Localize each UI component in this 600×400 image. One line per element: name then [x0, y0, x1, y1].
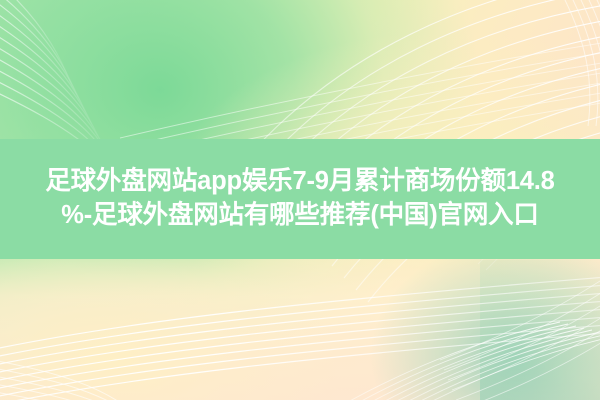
headline-text-block: 足球外盘网站app娱乐7-9月累计商场份额14.8 %-足球外盘网站有哪些推荐(… — [20, 165, 580, 232]
background-green-strip — [480, 260, 600, 400]
headline-line-2: %-足球外盘网站有哪些推荐(中国)官网入口 — [20, 199, 580, 233]
banner-image: 足球外盘网站app娱乐7-9月累计商场份额14.8 %-足球外盘网站有哪些推荐(… — [0, 0, 600, 400]
headline-line-1: 足球外盘网站app娱乐7-9月累计商场份额14.8 — [20, 165, 580, 199]
headline-banner: 足球外盘网站app娱乐7-9月累计商场份额14.8 %-足球外盘网站有哪些推荐(… — [0, 139, 600, 259]
